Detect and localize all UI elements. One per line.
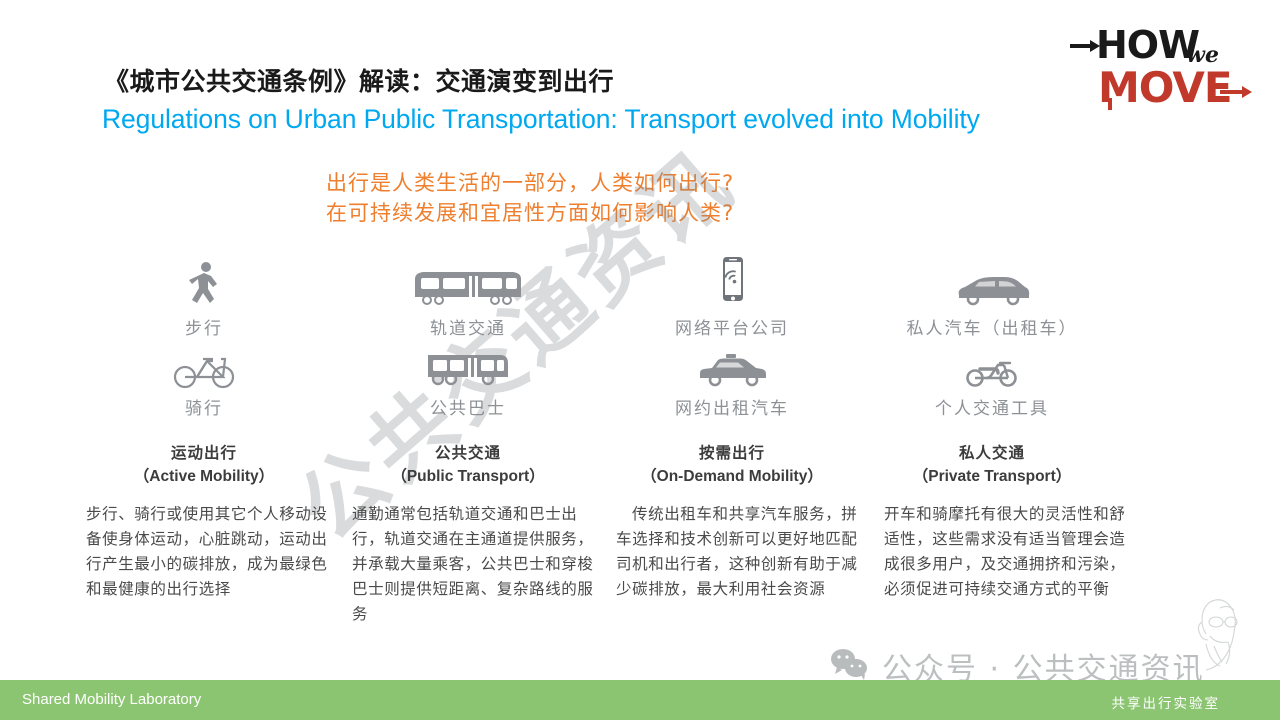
- mode-label: 私人汽车（出租车）: [854, 314, 1130, 339]
- mode-label: 个人交通工具: [854, 394, 1130, 419]
- category-heading-active-mobility: 运动出行 （Active Mobility）: [66, 441, 342, 489]
- category-heading-cn: 按需出行: [594, 441, 870, 465]
- category-column-on-demand-mobility: 网络平台公司 网约出租汽车 按需出行 （On-Demand Mobility） …: [594, 255, 870, 602]
- footer-bar: Shared Mobility Laboratory 共享出行实验室: [0, 680, 1280, 720]
- question-line-1: 出行是人类生活的一部分，人类如何出行?: [326, 168, 734, 198]
- bicycle-icon: [66, 343, 342, 389]
- category-heading-en: （On-Demand Mobility）: [594, 465, 870, 489]
- car-icon: [854, 255, 1130, 309]
- page-title-cn: 《城市公共交通条例》解读：交通演变到出行: [104, 62, 614, 98]
- svg-text:MOVE: MOVE: [1098, 63, 1232, 110]
- category-heading-private-transport: 私人交通 （Private Transport）: [854, 441, 1130, 489]
- category-heading-cn: 私人交通: [854, 441, 1130, 465]
- category-heading-cn: 公共交通: [330, 441, 606, 465]
- mode-label: 骑行: [66, 394, 342, 419]
- category-heading-on-demand-mobility: 按需出行 （On-Demand Mobility）: [594, 441, 870, 489]
- question-line-2: 在可持续发展和宜居性方面如何影响人类?: [326, 198, 734, 228]
- mode-ride-hailing-taxi: 网约出租汽车: [594, 343, 870, 419]
- how-we-move-logo: HOW we MOVE: [1060, 14, 1260, 110]
- slide-canvas: HOW we MOVE 《城市公共交通条例》解读：交通演变到出行 Regulat…: [0, 0, 1280, 720]
- bus-icon: [330, 343, 606, 389]
- category-heading-cn: 运动出行: [66, 441, 342, 465]
- mode-label: 网约出租汽车: [594, 394, 870, 419]
- scooter-icon: [854, 343, 1130, 389]
- pedestrian-icon: [66, 255, 342, 309]
- question-block: 出行是人类生活的一部分，人类如何出行? 在可持续发展和宜居性方面如何影响人类?: [326, 168, 734, 228]
- category-body-on-demand-mobility: 传统出租车和共享汽车服务，拼车选择和技术创新可以更好地匹配司机和出行者，这种创新…: [594, 502, 870, 602]
- mode-label: 轨道交通: [330, 314, 606, 339]
- mode-cycling: 骑行: [66, 343, 342, 419]
- footer-left-label: Shared Mobility Laboratory: [22, 691, 201, 708]
- tram-icon: [330, 255, 606, 309]
- mode-walking: 步行: [66, 255, 342, 339]
- smartphone-icon: [594, 255, 870, 309]
- mode-rail-transit: 轨道交通: [330, 255, 606, 339]
- mode-platform-company: 网络平台公司: [594, 255, 870, 339]
- mode-label: 网络平台公司: [594, 314, 870, 339]
- category-body-private-transport: 开车和骑摩托有很大的灵活性和舒适性，这些需求没有适当管理会造成很多用户，及交通拥…: [854, 502, 1130, 602]
- category-heading-public-transport: 公共交通 （Public Transport）: [330, 441, 606, 489]
- svg-text:HOW: HOW: [1096, 23, 1199, 67]
- category-column-active-mobility: 步行 骑行 运动出行 （Active Mobility） 步行、骑行或使用其它个…: [66, 255, 342, 602]
- portrait-sketch-icon: [1176, 592, 1248, 676]
- mode-public-bus: 公共巴士: [330, 343, 606, 419]
- category-body-active-mobility: 步行、骑行或使用其它个人移动设备使身体运动，心脏跳动，运动出行产生最小的碳排放，…: [66, 502, 342, 602]
- category-body-public-transport: 通勤通常包括轨道交通和巴士出行，轨道交通在主通道提供服务，并承载大量乘客，公共巴…: [330, 502, 606, 627]
- mode-label: 公共巴士: [330, 394, 606, 419]
- category-heading-en: （Public Transport）: [330, 465, 606, 489]
- category-column-private-transport: 私人汽车（出租车） 个人交通工具 私人交通 （Private Transport…: [854, 255, 1130, 602]
- category-column-public-transport: 轨道交通 公共巴士 公共交通 （Publ: [330, 255, 606, 627]
- category-heading-en: （Active Mobility）: [66, 465, 342, 489]
- footer-right-label: 共享出行实验室: [1112, 692, 1221, 712]
- taxi-icon: [594, 343, 870, 389]
- page-title-en: Regulations on Urban Public Transportati…: [102, 104, 980, 135]
- category-heading-en: （Private Transport）: [854, 465, 1130, 489]
- mode-label: 步行: [66, 314, 342, 339]
- mode-personal-vehicle: 个人交通工具: [854, 343, 1130, 419]
- mode-private-car: 私人汽车（出租车）: [854, 255, 1130, 339]
